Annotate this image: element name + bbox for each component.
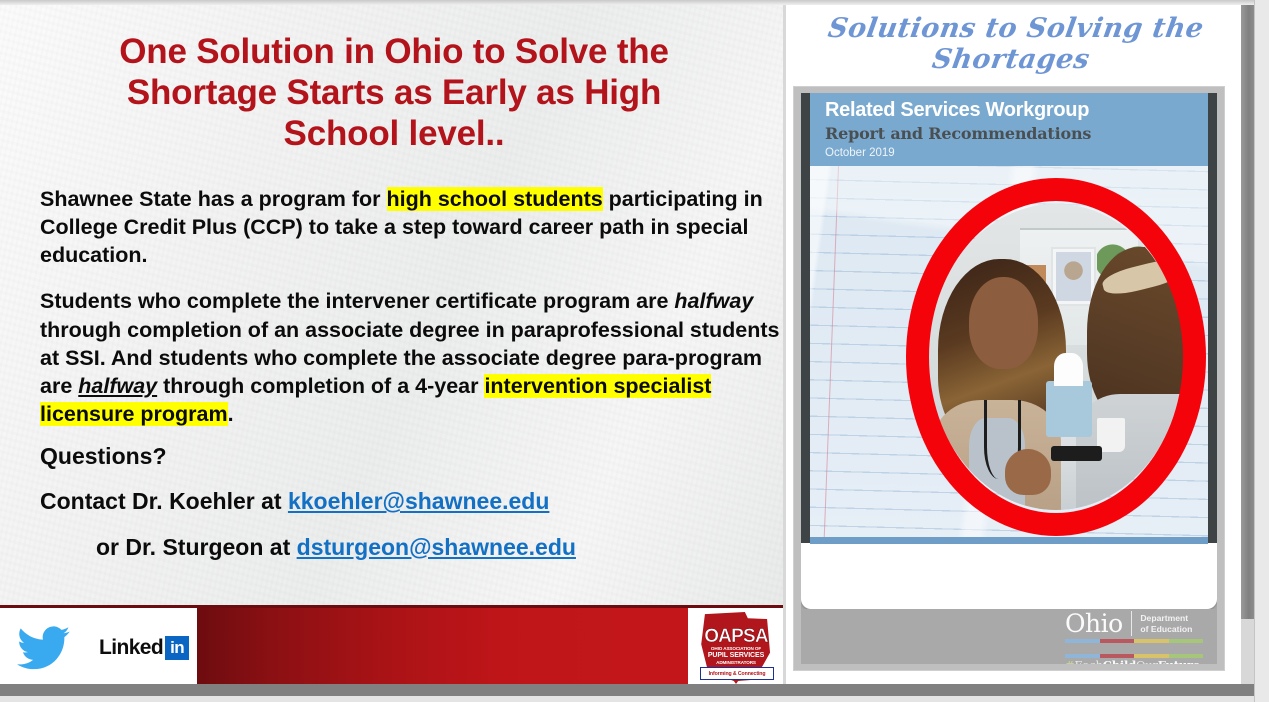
hashtag-each: Each xyxy=(1074,658,1102,664)
oapsa-logo-cell: OAPSA OHIO ASSOCIATION OF PUPIL SERVICES… xyxy=(688,608,783,687)
paragraph-1: Shawnee State has a program for high sch… xyxy=(40,185,780,269)
oapsa-acronym: OAPSA xyxy=(695,626,777,648)
document-white-strip xyxy=(810,544,1208,604)
oapsa-ribbon-text: Informing & Connecting xyxy=(709,671,766,677)
ohio-logo-divider xyxy=(1131,611,1133,636)
page-title-line-2: Shortage Starts as Early as High xyxy=(44,73,744,114)
email-link-koehler[interactable]: kkoehler@shawnee.edu xyxy=(288,488,549,514)
swatch-green xyxy=(1169,639,1204,643)
oapsa-subtitle-line-3: ADMINISTRATORS xyxy=(695,660,777,666)
document-right-edge xyxy=(1208,93,1217,543)
bottom-light-bar xyxy=(0,696,1254,702)
paragraph-2: Students who complete the intervener cer… xyxy=(40,287,780,428)
ohio-department-logo: Ohio Department of Education xyxy=(1065,611,1203,643)
paragraph-1-part-1: Shawnee State has a program for xyxy=(40,187,387,211)
slide-left-pane: One Solution in Ohio to Solve the Shorta… xyxy=(0,5,783,605)
emphasis-halfway-2: halfway xyxy=(78,374,157,398)
swatch-blue xyxy=(1065,639,1100,643)
document-cover-art xyxy=(810,166,1208,543)
ohio-department-line-1: Department xyxy=(1140,613,1188,623)
ohio-wordmark: Ohio xyxy=(1065,611,1123,636)
right-margin-line xyxy=(1254,0,1255,702)
cover-photo-ring xyxy=(906,178,1206,536)
slide-footer: Linked in OAPSA OHIO ASSOCIATION OF PUPI… xyxy=(0,605,783,690)
ohio-color-swatch xyxy=(1065,639,1203,643)
twitter-bird-icon[interactable] xyxy=(17,625,71,671)
document-card: Related Services Workgroup Report and Re… xyxy=(801,93,1217,609)
hashtag-our: Our xyxy=(1136,658,1158,664)
page-title-line-1: One Solution in Ohio to Solve the xyxy=(44,32,744,73)
hashtag-text: #EachChildOurFuture xyxy=(1065,658,1203,664)
document-header-date: October 2019 xyxy=(825,147,895,159)
script-heading: Solutions to Solving the Shortages xyxy=(781,13,1246,75)
hashtag-child: Child xyxy=(1103,658,1136,664)
oapsa-logo: OAPSA OHIO ASSOCIATION OF PUPIL SERVICES… xyxy=(695,612,777,690)
swatch-gold xyxy=(1134,639,1169,643)
social-links: Linked in xyxy=(0,608,197,687)
document-footer-secondary: #EachChildOurFuture xyxy=(801,649,1217,664)
page-title: One Solution in Ohio to Solve the Shorta… xyxy=(44,32,744,155)
document-header-title: Related Services Workgroup xyxy=(825,99,1089,122)
contact-line-2-prefix: or Dr. Sturgeon at xyxy=(96,534,297,560)
highlight-high-school-students: high school students xyxy=(387,187,603,211)
right-margin xyxy=(1254,0,1269,702)
document-cover-thumbnail[interactable]: Related Services Workgroup Report and Re… xyxy=(794,87,1224,670)
linkedin-in-badge: in xyxy=(165,636,189,660)
page-title-line-3: School level.. xyxy=(44,114,744,155)
footer-red-band xyxy=(197,608,688,687)
slide-canvas: One Solution in Ohio to Solve the Shorta… xyxy=(0,0,1269,702)
oapsa-ribbon: Informing & Connecting xyxy=(700,667,774,680)
hashtag-block: #EachChildOurFuture xyxy=(1065,651,1203,664)
email-link-sturgeon[interactable]: dsturgeon@shawnee.edu xyxy=(297,534,576,560)
contact-line-1-prefix: Contact Dr. Koehler at xyxy=(40,488,288,514)
document-left-edge xyxy=(801,93,810,543)
document-footer: Ohio Department of Education xyxy=(801,609,1217,647)
hashtag-future: Future xyxy=(1158,658,1200,664)
ohio-department-line-2: of Education xyxy=(1140,624,1192,634)
body-text: Shawnee State has a program for high sch… xyxy=(40,185,780,446)
right-pane: Solutions to Solving the Shortages Relat… xyxy=(786,5,1241,695)
paragraph-2-part-1: Students who complete the intervener cer… xyxy=(40,289,674,313)
contact-line-1: Contact Dr. Koehler at kkoehler@shawnee.… xyxy=(40,485,780,518)
document-blue-rule xyxy=(810,537,1208,544)
ohio-logo-row: Ohio Department of Education xyxy=(1065,611,1203,636)
document-header: Related Services Workgroup Report and Re… xyxy=(810,93,1208,166)
contact-block: Questions? Contact Dr. Koehler at kkoehl… xyxy=(40,440,780,576)
emphasis-halfway-1: halfway xyxy=(674,289,753,313)
oapsa-subtitle: OHIO ASSOCIATION OF PUPIL SERVICES ADMIN… xyxy=(695,646,777,666)
oapsa-subtitle-line-2: PUPIL SERVICES xyxy=(695,652,777,661)
vertical-scrollbar[interactable] xyxy=(1241,5,1254,619)
bottom-gray-bar xyxy=(0,684,1254,696)
contact-line-2: or Dr. Sturgeon at dsturgeon@shawnee.edu xyxy=(40,531,780,564)
ohio-department-text: Department of Education xyxy=(1140,613,1192,634)
document-header-subtitle: Report and Recommendations xyxy=(825,124,1091,143)
questions-label: Questions? xyxy=(40,440,780,473)
swatch-red xyxy=(1100,639,1135,643)
red-circle-frame xyxy=(906,178,1206,536)
paragraph-2-part-4: . xyxy=(228,402,234,426)
linkedin-logo[interactable]: Linked in xyxy=(99,636,189,660)
linkedin-word: Linked xyxy=(99,636,163,660)
paragraph-2-part-3: through completion of a 4-year xyxy=(157,374,484,398)
document-inner: Related Services Workgroup Report and Re… xyxy=(801,93,1217,664)
